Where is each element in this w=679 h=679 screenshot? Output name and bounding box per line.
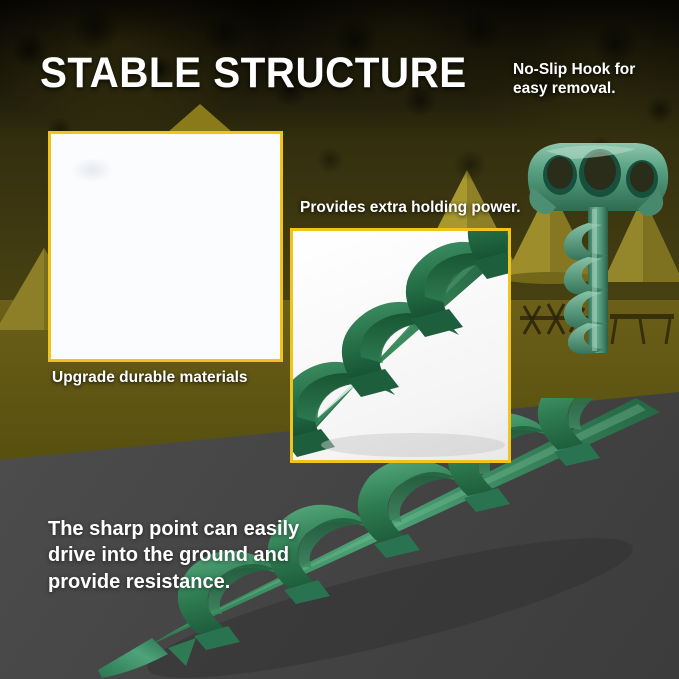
caption-no-slip-hook: No-Slip Hook for easy removal.: [513, 61, 673, 99]
caption-upgrade-materials: Upgrade durable materials: [52, 369, 248, 387]
pointer-triangle-icon: [168, 104, 232, 132]
auger-closeup-image: [293, 231, 508, 460]
photo-frame-auger-closeup: [290, 228, 511, 463]
photo-frame-plastic-pellets: [48, 131, 283, 362]
caption-sharp-point: The sharp point can easily drive into th…: [48, 516, 338, 595]
infographic-canvas: STABLE STRUCTURE No-Slip Hook for easy r…: [0, 0, 679, 679]
hook-top-stake-product: [516, 127, 679, 357]
caption-holding-power: Provides extra holding power.: [300, 199, 521, 217]
page-title: STABLE STRUCTURE: [40, 52, 467, 95]
plastic-pellets-image: [51, 134, 280, 359]
